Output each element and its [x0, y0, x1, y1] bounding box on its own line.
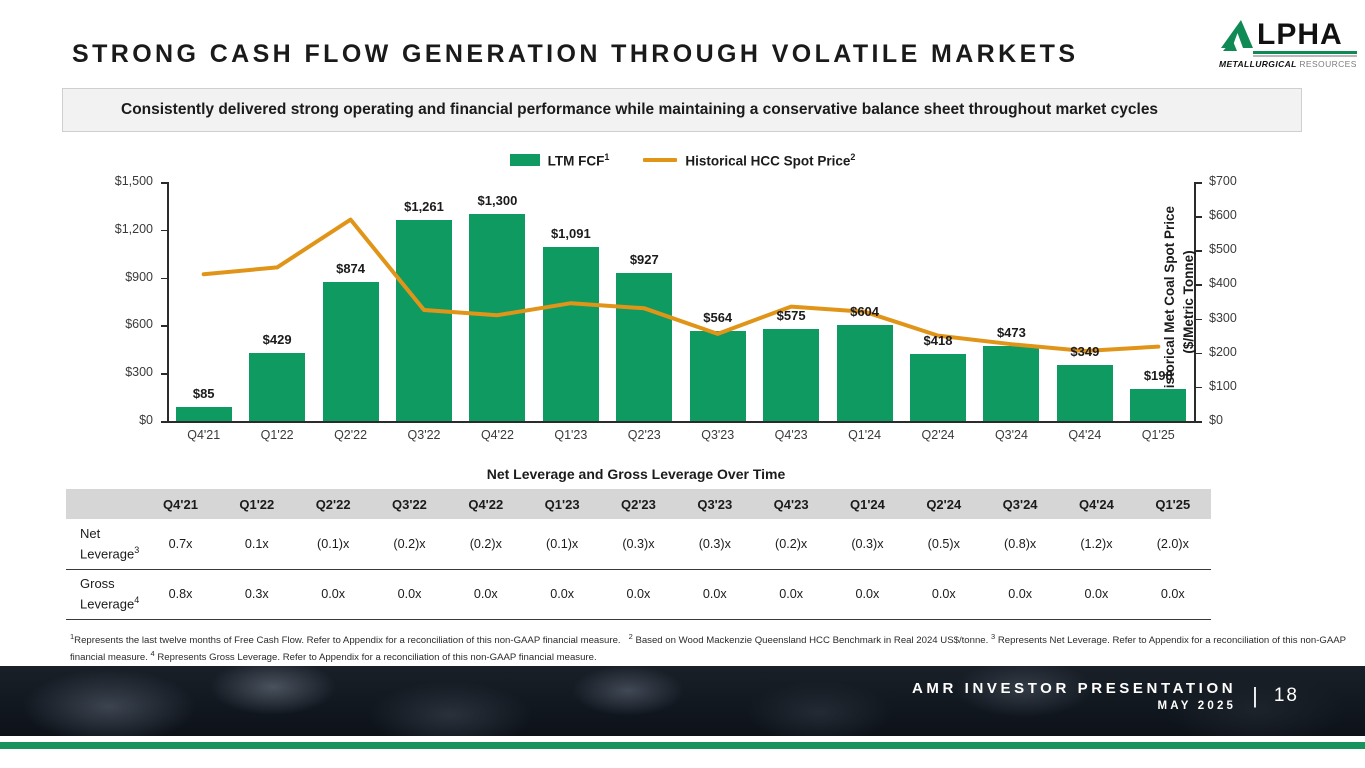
footnote-marker-4: 4: [151, 649, 155, 658]
table-cell: 0.0x: [600, 569, 676, 619]
y-tickmark-left: [161, 325, 167, 327]
footer-lines: AMR INVESTOR PRESENTATION MAY 2025: [912, 680, 1236, 712]
logo-wordmark: LPHA: [1257, 18, 1343, 52]
chart-x-tick-label: Q3'23: [678, 428, 758, 442]
chart-bar: [616, 273, 672, 421]
table-cell: (0.8)x: [982, 519, 1058, 569]
table-column-header: Q2'24: [906, 489, 982, 519]
footnote-marker-2: 2: [629, 632, 633, 641]
chart-x-tick-label: Q2'23: [604, 428, 684, 442]
chart-bar: [690, 331, 746, 421]
chart-axis-left: [167, 182, 169, 422]
table-cell: (0.2)x: [448, 519, 524, 569]
table-column-header: Q4'23: [753, 489, 829, 519]
callout-text: Consistently delivered strong operating …: [63, 101, 1158, 119]
y-tickmark-right: [1196, 250, 1202, 252]
chart-x-tick-label: Q1'24: [825, 428, 905, 442]
footer-divider: |: [1252, 683, 1258, 709]
chart-bar-value-label: $1,300: [457, 193, 537, 208]
chart-x-tick-label: Q1'25: [1118, 428, 1198, 442]
table-row: GrossLeverage40.8x0.3x0.0x0.0x0.0x0.0x0.…: [66, 569, 1211, 619]
y-tickmark-right: [1196, 182, 1202, 184]
table-cell: 0.0x: [677, 569, 753, 619]
chart-bar-value-label: $349: [1045, 344, 1125, 359]
table-cell: (0.2)x: [753, 519, 829, 569]
y-tickmark-right: [1196, 216, 1202, 218]
chart-bar: [983, 346, 1039, 421]
table-header-blank: [66, 489, 142, 519]
y-tickmark-left: [161, 421, 167, 423]
legend-item-2[interactable]: Historical HCC Spot Price2: [643, 152, 855, 169]
chart-bar: [910, 354, 966, 421]
logo-subtitle-bold: METALLURGICAL: [1219, 59, 1299, 69]
y-tick-right: $700: [1209, 174, 1237, 188]
table-cell: 0.0x: [906, 569, 982, 619]
chart-x-tick-label: Q1'22: [237, 428, 317, 442]
logo-subtitle-light: RESOURCES: [1299, 59, 1356, 69]
y-tick-left: $0: [139, 413, 153, 427]
chart-bar-value-label: $473: [971, 325, 1051, 340]
legend-item-1[interactable]: LTM FCF1: [510, 152, 610, 169]
chart-bar-value-label: $1,091: [531, 226, 611, 241]
table-cell: 0.0x: [295, 569, 371, 619]
table-cell: 0.0x: [1135, 569, 1211, 619]
chart-bar-value-label: $564: [678, 310, 758, 325]
table-cell: (1.2)x: [1058, 519, 1134, 569]
footer-date: MAY 2025: [912, 700, 1236, 712]
table-cell: 0.0x: [524, 569, 600, 619]
chart-x-tick-label: Q4'23: [751, 428, 831, 442]
chart-x-tick-label: Q3'22: [384, 428, 464, 442]
y-tick-right: $400: [1209, 276, 1237, 290]
y-tickmark-right: [1196, 284, 1202, 286]
chart-bar-value-label: $85: [164, 386, 244, 401]
footer-presentation-title: AMR INVESTOR PRESENTATION: [912, 680, 1236, 697]
y-tick-left: $1,500: [115, 174, 153, 188]
chart-bar-value-label: $1,261: [384, 199, 464, 214]
chart-bar: [249, 353, 305, 421]
legend-label: LTM FCF1: [548, 152, 610, 169]
y-tickmark-left: [161, 373, 167, 375]
table-column-header: Q1'22: [219, 489, 295, 519]
logo-rule-gray: [1253, 55, 1357, 57]
table-cell: (0.5)x: [906, 519, 982, 569]
chart-legend: LTM FCF1Historical HCC Spot Price2: [0, 152, 1365, 169]
table-cell: (0.1)x: [295, 519, 371, 569]
table-row-label: NetLeverage3: [66, 519, 142, 569]
leverage-table-title: Net Leverage and Gross Leverage Over Tim…: [62, 466, 1210, 482]
y-tickmark-right: [1196, 319, 1202, 321]
chart-bar: [763, 329, 819, 421]
chart-bar: [1057, 365, 1113, 421]
page-title: STRONG CASH FLOW GENERATION THROUGH VOLA…: [72, 40, 1078, 69]
chart-y-axis-label-right: Historical Met Coal Spot Price ($/Metric…: [1160, 180, 1200, 424]
chart-bar-value-label: $604: [825, 304, 905, 319]
chart-x-tick-label: Q4'21: [164, 428, 244, 442]
y-tick-right: $600: [1209, 208, 1237, 222]
table-cell: 0.0x: [448, 569, 524, 619]
table-cell: 0.0x: [982, 569, 1058, 619]
table-column-header: Q4'22: [448, 489, 524, 519]
table-cell: 0.0x: [829, 569, 905, 619]
table-row-label: GrossLeverage4: [66, 569, 142, 619]
leverage-table-body: NetLeverage30.7x0.1x(0.1)x(0.2)x(0.2)x(0…: [66, 519, 1211, 619]
chart-line-series: [167, 182, 1195, 421]
chart-x-tick-label: Q2'24: [898, 428, 978, 442]
table-cell: (0.3)x: [600, 519, 676, 569]
table-cell: 0.8x: [142, 569, 218, 619]
chart-bar-value-label: $418: [898, 333, 978, 348]
footnote-2-text: Based on Wood Mackenzie Queensland HCC B…: [635, 635, 988, 646]
table-header-row: Q4'21Q1'22Q2'22Q3'22Q4'22Q1'23Q2'23Q3'23…: [66, 489, 1211, 519]
table-cell: 0.0x: [753, 569, 829, 619]
leverage-table-head: Q4'21Q1'22Q2'22Q3'22Q4'22Q1'23Q2'23Q3'23…: [66, 489, 1211, 519]
table-column-header: Q2'22: [295, 489, 371, 519]
legend-swatch-line-icon: [643, 158, 677, 162]
table-cell: (0.1)x: [524, 519, 600, 569]
y-tickmark-left: [161, 230, 167, 232]
table-cell: 0.0x: [1058, 569, 1134, 619]
chart-bar-value-label: $198: [1118, 368, 1198, 383]
table-column-header: Q1'24: [829, 489, 905, 519]
y-tick-left: $600: [125, 317, 153, 331]
logo-mark: LPHA: [1205, 20, 1357, 56]
table-column-header: Q3'23: [677, 489, 753, 519]
chart-bar-value-label: $575: [751, 308, 831, 323]
footnote-4-text: Represents Gross Leverage. Refer to Appe…: [157, 652, 596, 663]
chart-x-tick-label: Q3'24: [971, 428, 1051, 442]
table-row: NetLeverage30.7x0.1x(0.1)x(0.2)x(0.2)x(0…: [66, 519, 1211, 569]
table-column-header: Q4'24: [1058, 489, 1134, 519]
chart-bar: [1130, 389, 1186, 421]
footnotes: 1Represents the last twelve months of Fr…: [70, 630, 1355, 664]
chart-bar: [396, 220, 452, 421]
table-column-header: Q3'22: [371, 489, 447, 519]
legend-label: Historical HCC Spot Price2: [685, 152, 855, 169]
callout-bar: Consistently delivered strong operating …: [62, 88, 1302, 132]
legend-swatch-bar-icon: [510, 154, 540, 166]
y-tick-right: $300: [1209, 311, 1237, 325]
footer-banner: AMR INVESTOR PRESENTATION MAY 2025 | 18: [0, 666, 1365, 736]
chart-x-tick-label: Q1'23: [531, 428, 611, 442]
table-cell: 0.0x: [371, 569, 447, 619]
footer-page-number: 18: [1274, 685, 1299, 707]
y-tick-right: $0: [1209, 413, 1223, 427]
chart-bar-value-label: $429: [237, 332, 317, 347]
chart-bar: [543, 247, 599, 421]
alpha-metallurgical-resources-logo: LPHA METALLURGICAL RESOURCES: [1205, 20, 1357, 72]
chart-bar: [469, 214, 525, 421]
table-column-header: Q1'25: [1135, 489, 1211, 519]
chart-x-tick-label: Q2'22: [311, 428, 391, 442]
chart-bar-value-label: $874: [311, 261, 391, 276]
table-column-header: Q2'23: [600, 489, 676, 519]
table-cell: 0.3x: [219, 569, 295, 619]
y-tick-left: $900: [125, 270, 153, 284]
table-cell: (0.2)x: [371, 519, 447, 569]
y-tick-left: $1,200: [115, 222, 153, 236]
logo-rule-green: [1253, 51, 1357, 54]
y-tick-right: $100: [1209, 379, 1237, 393]
table-column-header: Q4'21: [142, 489, 218, 519]
table-column-header: Q1'23: [524, 489, 600, 519]
table-cell: (0.3)x: [677, 519, 753, 569]
table-cell: (0.3)x: [829, 519, 905, 569]
leverage-table: Q4'21Q1'22Q2'22Q3'22Q4'22Q1'23Q2'23Q3'23…: [66, 489, 1211, 620]
y-tickmark-right: [1196, 353, 1202, 355]
footer-text-group: AMR INVESTOR PRESENTATION MAY 2025 | 18: [912, 680, 1299, 712]
chart-bar-value-label: $927: [604, 252, 684, 267]
table-cell: (2.0)x: [1135, 519, 1211, 569]
chart-bar: [837, 325, 893, 421]
y-tickmark-left: [161, 278, 167, 280]
chart-spot-price-line: [204, 220, 1159, 351]
table-cell: 0.7x: [142, 519, 218, 569]
y-tickmark-right: [1196, 421, 1202, 423]
y-tick-left: $300: [125, 365, 153, 379]
chart-bar: [323, 282, 379, 421]
slide: STRONG CASH FLOW GENERATION THROUGH VOLA…: [0, 0, 1365, 768]
y-tick-right: $200: [1209, 345, 1237, 359]
logo-subtitle: METALLURGICAL RESOURCES: [1219, 59, 1359, 69]
chart-plot-area: [167, 182, 1195, 421]
chart-axis-right: [1194, 182, 1196, 422]
green-accent-strip: [0, 742, 1365, 749]
y-tickmark-right: [1196, 387, 1202, 389]
chart-x-tick-label: Q4'22: [457, 428, 537, 442]
y-tickmark-left: [161, 182, 167, 184]
chart-bar: [176, 407, 232, 421]
chart-axis-bottom: [167, 421, 1196, 423]
y-tick-right: $500: [1209, 242, 1237, 256]
table-column-header: Q3'24: [982, 489, 1058, 519]
footnote-marker-3: 3: [991, 632, 995, 641]
table-cell: 0.1x: [219, 519, 295, 569]
chart-x-tick-label: Q4'24: [1045, 428, 1125, 442]
footnote-1-text: Represents the last twelve months of Fre…: [74, 635, 620, 646]
